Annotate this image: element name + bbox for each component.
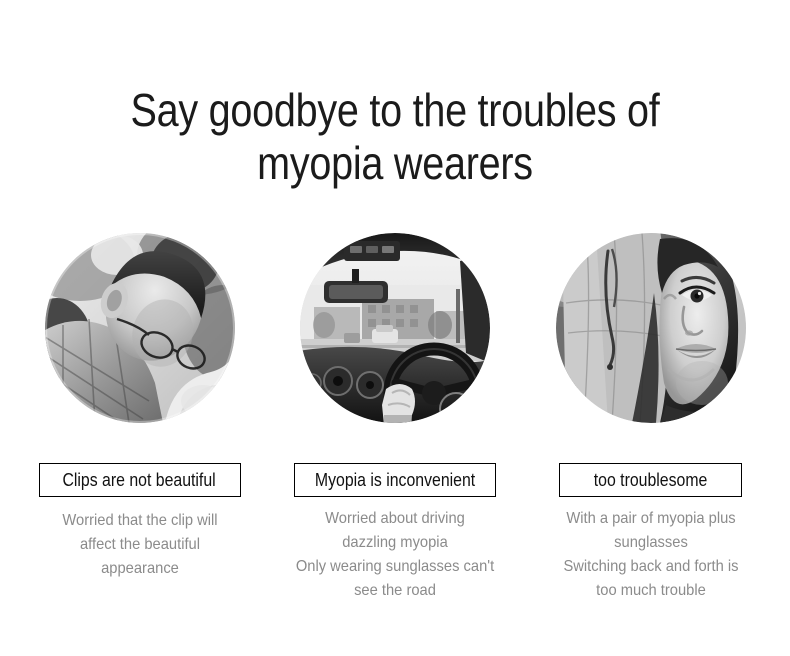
caption-label: too troublesome xyxy=(594,470,708,490)
feature-columns: Clips are not beautiful Worried that the… xyxy=(0,233,790,603)
caption-box: too troublesome xyxy=(559,463,742,497)
caption-box: Myopia is inconvenient xyxy=(294,463,496,497)
woman-face-portrait-photo xyxy=(556,233,746,423)
feature-column: too troublesome With a pair of myopia pl… xyxy=(538,233,763,603)
driving-car-interior-photo xyxy=(300,233,490,423)
caption-box: Clips are not beautiful xyxy=(39,463,241,497)
description-text: Worried that the clip will affect the be… xyxy=(29,509,250,581)
caption-label: Clips are not beautiful xyxy=(63,470,216,490)
feature-column: Myopia is inconvenient Worried about dri… xyxy=(283,233,508,603)
description-text: With a pair of myopia plus sunglasses Sw… xyxy=(540,507,761,603)
page-title: Say goodbye to the troubles of myopia we… xyxy=(55,84,734,190)
caption-label: Myopia is inconvenient xyxy=(315,470,475,490)
feature-column: Clips are not beautiful Worried that the… xyxy=(27,233,252,581)
description-text: Worried about driving dazzling myopia On… xyxy=(285,507,506,603)
boy-with-glasses-studying-photo xyxy=(45,233,235,423)
